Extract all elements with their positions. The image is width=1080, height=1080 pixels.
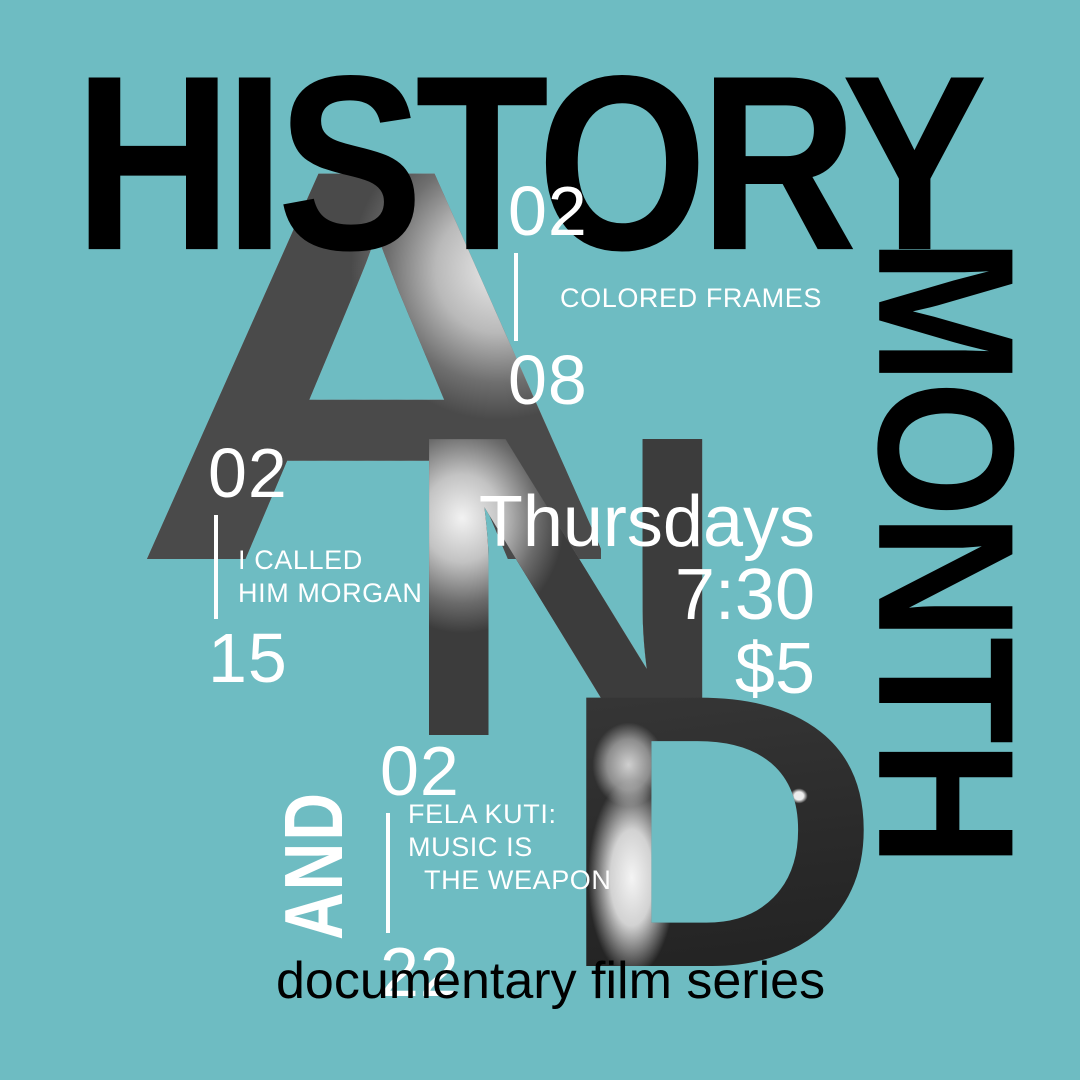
screening-1-title: COLORED FRAMES [560, 282, 822, 315]
screening-block-2: 02 15 I CALLED HIM MORGAN [208, 440, 288, 692]
screening-3-separator-bar [386, 813, 390, 933]
showtime-price: $5 [475, 633, 815, 706]
screening-3-title-line-3: THE WEAPON [408, 864, 612, 897]
screening-block-1: 02 08 COLORED FRAMES [508, 178, 588, 414]
screening-1-separator-bar [514, 253, 518, 341]
screening-2-title-line-2: HIM MORGAN [238, 577, 423, 610]
screening-3-title: FELA KUTI: MUSIC IS THE WEAPON [408, 798, 612, 897]
showtime-day: Thursdays [475, 486, 815, 559]
screening-1-title-line-1: COLORED FRAMES [560, 283, 822, 313]
screening-2-separator-bar [214, 515, 218, 619]
screening-2-day: 15 [208, 625, 288, 692]
poster-canvas: A N D HISTORY BLACK MONTH AND 02 08 COLO… [0, 0, 1080, 1080]
screening-1-day: 08 [508, 347, 588, 414]
screening-1-month: 02 [508, 178, 588, 245]
showtime-time: 7:30 [475, 559, 815, 632]
screening-2-title: I CALLED HIM MORGAN [238, 544, 423, 610]
tagline: documentary film series [276, 955, 825, 1007]
screening-2-month: 02 [208, 440, 288, 507]
screening-2-title-line-1: I CALLED [238, 544, 423, 577]
screening-3-title-line-1: FELA KUTI: [408, 798, 612, 831]
screening-3-month: 02 [380, 738, 460, 805]
showtime-block: Thursdays 7:30 $5 [475, 486, 815, 706]
headline-month: MONTH [848, 238, 1042, 998]
screening-3-title-line-2: MUSIC IS [408, 831, 612, 864]
headline-and: AND [272, 760, 355, 940]
